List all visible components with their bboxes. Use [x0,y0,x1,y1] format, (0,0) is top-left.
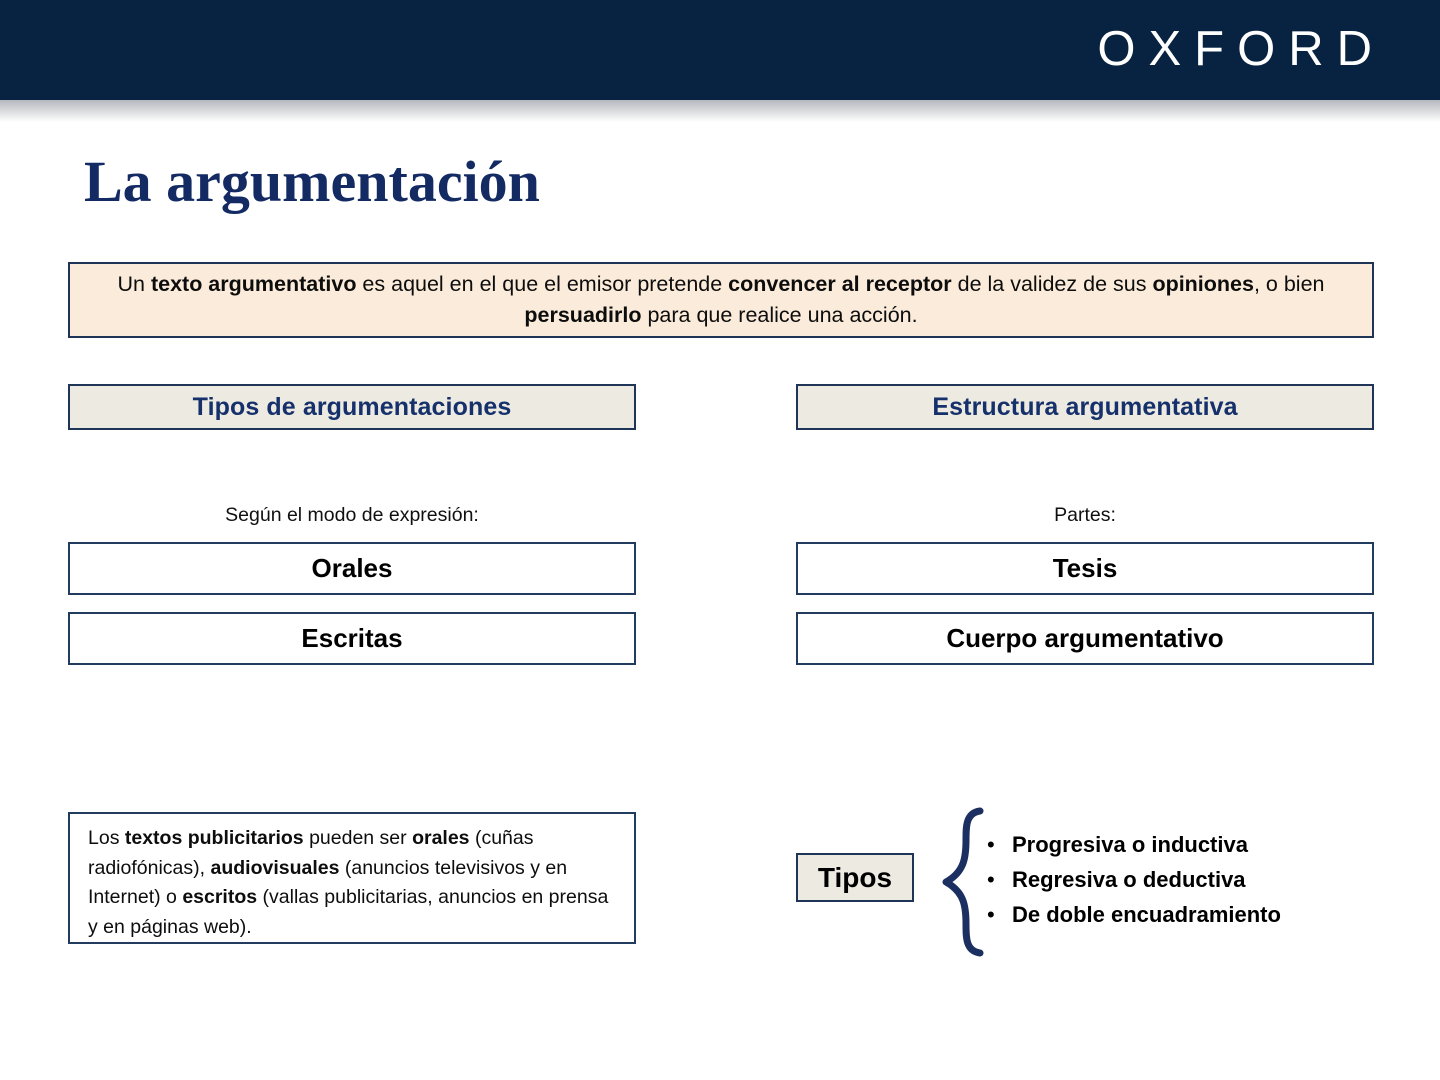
tipos-bullet-list: • Progresiva o inductiva • Regresiva o d… [978,828,1378,933]
item-box-cuerpo-label: Cuerpo argumentativo [946,623,1223,654]
tipos-box: Tipos [796,853,914,902]
item-box-cuerpo-argumentativo: Cuerpo argumentativo [796,612,1374,665]
item-box-escritas-label: Escritas [301,623,402,654]
definition-text: Un texto argumentativo es aquel en el qu… [70,269,1372,331]
list-item-label: Progresiva o inductiva [1012,828,1248,862]
item-box-orales-label: Orales [312,553,393,584]
page-title: La argumentación [84,146,540,218]
sub-label-partes: Partes: [796,502,1374,528]
note-box-text: Los textos publicitarios pueden ser oral… [88,824,618,942]
oxford-logo: OXFORD [1097,18,1385,80]
section-header-tipos-de-argumentaciones: Tipos de argumentaciones [68,384,636,430]
item-box-tesis: Tesis [796,542,1374,595]
section-header-right-label: Estructura argumentativa [932,393,1237,422]
bullet-dot-icon: • [978,863,1012,897]
definition-callout: Un texto argumentativo es aquel en el qu… [68,262,1374,338]
section-header-left-label: Tipos de argumentaciones [193,393,512,422]
bullet-dot-icon: • [978,898,1012,932]
list-item: • Regresiva o deductiva [978,863,1378,897]
item-box-orales: Orales [68,542,636,595]
list-item: • De doble encuadramiento [978,898,1378,932]
item-box-escritas: Escritas [68,612,636,665]
item-box-tesis-label: Tesis [1053,553,1118,584]
note-box-textos-publicitarios: Los textos publicitarios pueden ser oral… [68,812,636,944]
list-item-label: Regresiva o deductiva [1012,863,1246,897]
tipos-box-label: Tipos [818,862,892,894]
header-shadow [0,100,1440,122]
sub-label-modo-de-expresion: Según el modo de expresión: [68,502,636,528]
bullet-dot-icon: • [978,828,1012,862]
list-item: • Progresiva o inductiva [978,828,1378,862]
section-header-estructura-argumentativa: Estructura argumentativa [796,384,1374,430]
list-item-label: De doble encuadramiento [1012,898,1281,932]
